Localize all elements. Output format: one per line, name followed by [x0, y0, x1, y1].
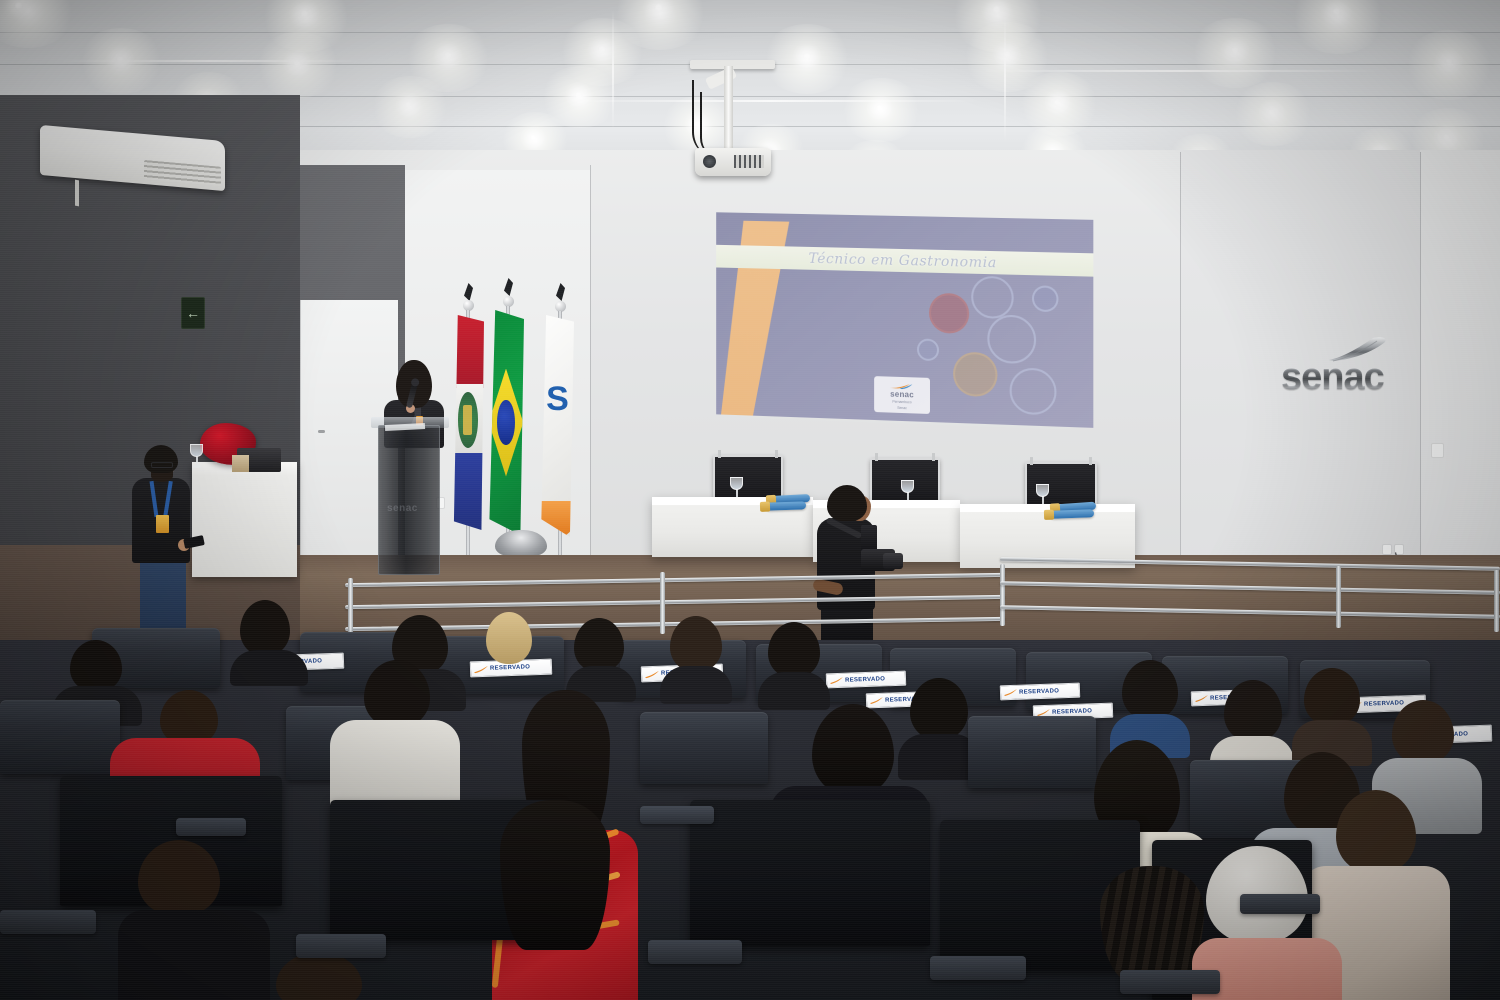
ceiling-light [575, 92, 582, 98]
podium-notes [385, 423, 425, 431]
diploma-scroll [1050, 509, 1094, 519]
seat-armrest [0, 910, 96, 934]
ceiling-light [1445, 58, 1453, 64]
audience-seat[interactable] [640, 712, 768, 784]
senac-wall-logo: senac [1281, 336, 1413, 408]
ceiling-light [558, 18, 646, 86]
ceiling-light [404, 24, 492, 92]
senac-swoosh-icon [645, 670, 659, 677]
ceiling-light [14, 2, 23, 9]
audience-member [260, 952, 390, 1000]
audience-member [660, 616, 732, 696]
seat-armrest [930, 956, 1026, 980]
emergency-exit-icon: ← [181, 297, 205, 329]
reserved-label: RESERVADO [845, 676, 885, 683]
ceiling-light [803, 53, 811, 59]
seat-armrest [640, 806, 714, 824]
ceiling-light [1231, 47, 1239, 53]
slide-logo-brand: senac [890, 391, 914, 400]
ceiling-light [654, 4, 663, 11]
ac-drain-pipe [75, 180, 79, 207]
audience-member [230, 600, 308, 678]
audience-member [1292, 668, 1372, 764]
seat-armrest [1120, 970, 1220, 994]
slide-senac-logo: senac Pernambuco Senac [874, 376, 930, 414]
ceiling-light [1404, 30, 1494, 100]
senac-wall-logo-text: senac [1281, 358, 1413, 396]
ceiling-light [1332, 8, 1341, 15]
ceiling-light [1054, 99, 1061, 105]
slide-logo-sub1: Pernambuco [892, 400, 911, 405]
ceiling-light [992, 6, 1001, 13]
podium: senac [378, 425, 440, 575]
audience-member [758, 622, 830, 702]
gift-box [232, 455, 249, 472]
audience-seat[interactable] [0, 700, 120, 774]
eyeglasses-icon [151, 462, 173, 468]
ceiling-light [444, 52, 452, 58]
seat-armrest [1240, 894, 1320, 914]
audience-member [330, 660, 460, 810]
seat-armrest [648, 940, 742, 964]
ceiling-light [0, 0, 76, 48]
ceiling-light [762, 24, 852, 94]
ceiling-light [300, 10, 309, 17]
ceiling-light [876, 105, 883, 111]
camera-lens [883, 553, 903, 569]
door-handle[interactable] [318, 430, 325, 433]
railing-post [348, 578, 353, 640]
wall-sensor [1431, 443, 1444, 458]
projector [695, 148, 771, 176]
railing-post [1000, 564, 1005, 626]
audience-member [480, 800, 660, 1000]
ceiling-light [598, 46, 606, 52]
seat-armrest [176, 818, 246, 836]
wall-column-right [1420, 150, 1500, 620]
exit-arrow-icon: ← [186, 306, 200, 320]
senac-swoosh-icon [830, 677, 843, 684]
diploma-scroll [766, 501, 806, 510]
projector-drop-pole [724, 66, 733, 150]
ceiling-light [530, 135, 536, 140]
ceiling-light [1443, 134, 1450, 140]
senac-swoosh-icon [1195, 695, 1208, 702]
audience-seat-front[interactable] [690, 800, 930, 946]
slide-food-photo [913, 268, 1085, 422]
reserved-sign: RESERVADO [1000, 683, 1080, 701]
reserved-sign: RESERVADO [826, 671, 906, 689]
ceiling-light [260, 0, 352, 52]
auditorium-scene: ← Técnico em Gastronomia [0, 0, 1500, 1000]
photographer-hair [827, 485, 867, 521]
ceiling-light [1268, 109, 1275, 115]
projector-controls[interactable] [734, 155, 764, 168]
reserved-label: RESERVADO [1052, 708, 1092, 715]
seat-armrest [296, 934, 386, 958]
audience-member [566, 618, 636, 694]
projector-lens [703, 155, 716, 168]
audience-member [482, 612, 538, 674]
staff-hair [144, 445, 178, 473]
camera-flash [861, 525, 877, 551]
senac-swoosh-icon [1004, 689, 1017, 696]
ceiling-light [1190, 18, 1280, 88]
slide-logo-sub2: Senac [897, 405, 907, 410]
railing-post [1336, 566, 1341, 628]
wall-outlet [1382, 544, 1392, 555]
ac-vent-grille [144, 160, 222, 186]
id-badge [156, 515, 169, 533]
railing-post [1494, 570, 1499, 632]
reserved-label: RESERVADO [1019, 688, 1059, 695]
slide-title: Técnico em Gastronomia [809, 250, 997, 270]
flag-stand-base [495, 530, 547, 556]
audience-member [118, 840, 270, 1000]
projection-slide: Técnico em Gastronomia senac Pernambuco … [716, 212, 1093, 428]
ceiling-light [405, 102, 412, 108]
podium-logo-etch: senac [387, 503, 433, 515]
staff-with-phone [130, 445, 210, 645]
